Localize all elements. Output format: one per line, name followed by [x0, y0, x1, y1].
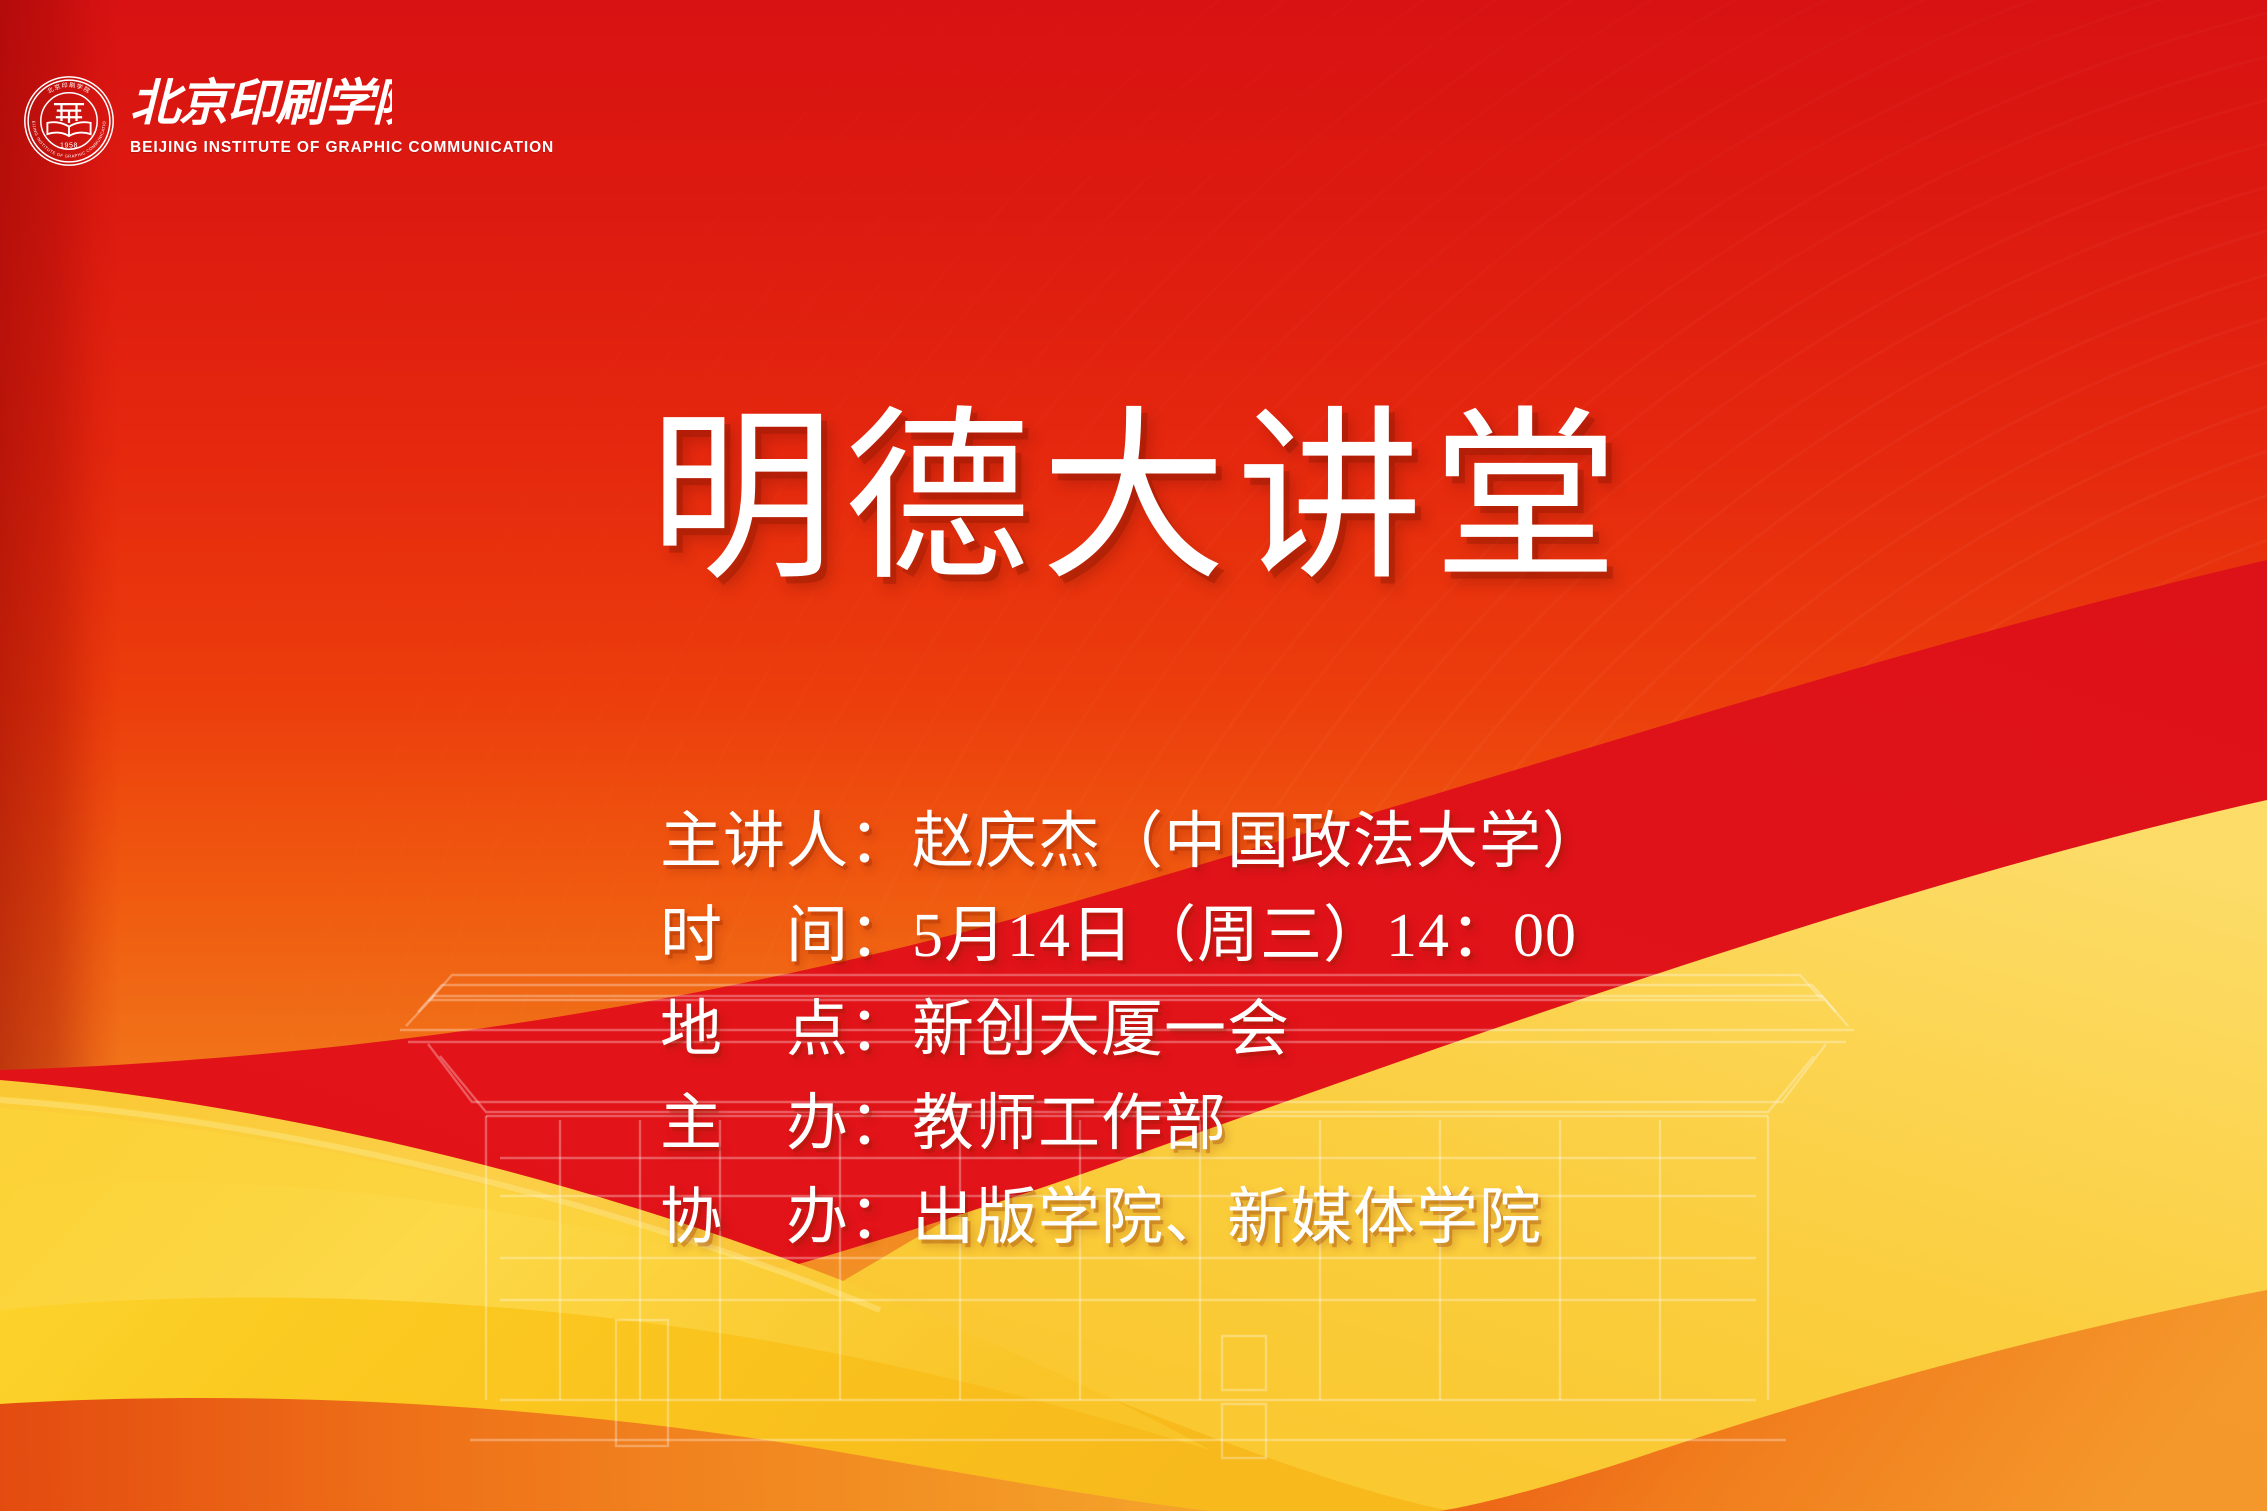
brand-text-block: 北京印刷学院 BEIJING INSTITUTE OF GRAPHIC COMM… [130, 52, 554, 157]
detail-line-venue: 地 点：新创大厦一会 [660, 983, 1605, 1077]
poster-canvas: 1958 北京印刷学院 BEIJING INSTITUTE OF GRAPHIC… [0, 0, 2267, 1511]
svg-text:1958: 1958 [60, 142, 78, 149]
detail-line-organizer: 主 办：教师工作部 [660, 1077, 1605, 1171]
detail-line-speaker: 主讲人：赵庆杰（中国政法大学） [660, 795, 1605, 889]
brand-name-cn: 北京印刷学院 [130, 70, 554, 132]
event-details: 主讲人：赵庆杰（中国政法大学） 时 间：5月14日（周三）14：00 地 点：新… [660, 795, 1605, 1265]
building-line-art [0, 0, 2267, 1511]
page-title: 明德大讲堂 [0, 400, 2267, 601]
brand-lockup: 1958 北京印刷学院 BEIJING INSTITUTE OF GRAPHIC… [22, 52, 554, 168]
brand-name-en: BEIJING INSTITUTE OF GRAPHIC COMMUNICATI… [130, 139, 554, 157]
detail-line-time: 时 间：5月14日（周三）14：00 [660, 889, 1605, 983]
detail-line-coorganizer: 协 办：出版学院、新媒体学院 [660, 1171, 1605, 1265]
svg-text:北京印刷学院: 北京印刷学院 [130, 75, 392, 131]
university-seal-icon: 1958 北京印刷学院 BEIJING INSTITUTE OF GRAPHIC… [22, 74, 116, 168]
